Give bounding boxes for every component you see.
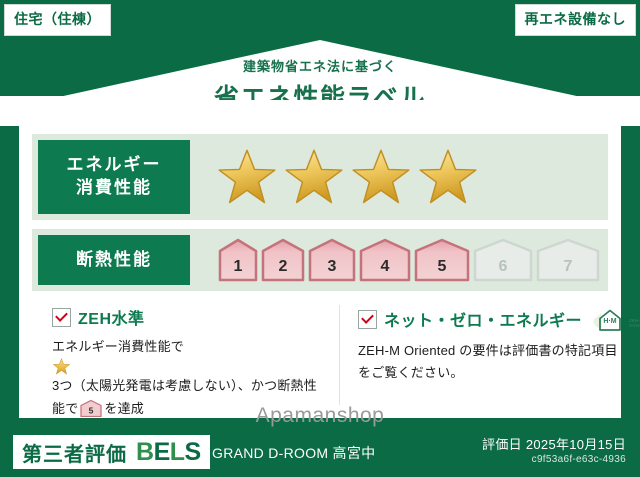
bels-letter-s: S <box>185 438 201 466</box>
footer-bar: 第三者評価 BELS GRAND D-ROOM 高宮中 評価日 2025年10月… <box>0 429 640 477</box>
insulation-grade-value: 1 <box>218 258 258 276</box>
insulation-performance-label: 断熱性能 <box>38 235 190 285</box>
evaluation-date: 評価日 2025年10月15日 <box>482 434 626 453</box>
bels-letter-l: L <box>170 438 185 466</box>
energy-performance-label: エネルギー 消費性能 <box>38 140 190 214</box>
energy-performance-row: エネルギー 消費性能 <box>32 134 608 220</box>
zeh-standard-title: ZEH水準 <box>78 305 145 329</box>
insulation-performance-row: 断熱性能 1234567 <box>32 229 608 291</box>
zeh-body-part1: エネルギー消費性能で <box>52 339 184 354</box>
bels-logo: BELS <box>136 438 201 467</box>
insulation-grade-scale: 1234567 <box>218 238 600 282</box>
third-party-eval-label: 第三者評価 <box>22 438 127 467</box>
insulation-grade-value: 5 <box>414 258 470 276</box>
net-zero-energy-note: ネット・ゼロ・エネルギー H·M ZEH-M Oriented ZEH-M <box>339 305 640 405</box>
insulation-grade-value: 6 <box>473 258 533 276</box>
star-icon <box>352 149 410 205</box>
zeh-standard-note: ZEH水準 エネルギー消費性能で3つ（太陽光発電は考慮しない）、かつ断熱性能で5… <box>38 305 339 405</box>
bels-energy-label: 住宅（住棟） 再エネ設備なし 建築物省エネ法に基づく 省エネ性能ラベル エネルギ… <box>0 0 640 477</box>
rating-card: エネルギー 消費性能 断熱性能 1234567 ZEH水準 <box>19 100 621 418</box>
insulation-grade-value: 2 <box>261 258 305 276</box>
inline-grade-badge: 5 <box>80 400 102 424</box>
insulation-label-line1: 断熱性能 <box>76 249 152 272</box>
zeh-house-icon: H·M <box>593 305 627 333</box>
insulation-grade-badge: 4 <box>359 238 411 282</box>
zeh-standard-heading: ZEH水準 <box>52 305 329 329</box>
net-zero-title: ネット・ゼロ・エネルギー <box>384 307 582 331</box>
insulation-grade-badge: 2 <box>261 238 305 282</box>
insulation-grade-value: 3 <box>308 258 356 276</box>
zeh-logo-text: H·M <box>603 318 616 325</box>
net-zero-body: ZEH-M Oriented の要件は評価書の特記項目をご覧ください。 <box>358 340 630 385</box>
renewable-equipment-tag: 再エネ設備なし <box>515 4 637 36</box>
bels-badge: 第三者評価 BELS <box>13 435 210 469</box>
star-icon <box>419 149 477 205</box>
bels-letter-b: B <box>136 438 154 466</box>
inline-grade-value: 5 <box>89 405 94 415</box>
insulation-grade-badge: 1 <box>218 238 258 282</box>
notes-section: ZEH水準 エネルギー消費性能で3つ（太陽光発電は考慮しない）、かつ断熱性能で5… <box>38 305 640 405</box>
bels-letter-e: E <box>154 438 170 466</box>
energy-label-line1: エネルギー <box>67 154 162 177</box>
energy-performance-value <box>190 134 608 220</box>
zeh-caption-line1: ZEH-M <box>629 318 640 323</box>
star-icon <box>285 149 343 205</box>
star-rating <box>218 149 477 205</box>
inline-star-icon <box>53 358 70 375</box>
energy-label-line2: 消費性能 <box>76 177 152 200</box>
insulation-grade-value: 7 <box>536 258 600 276</box>
zeh-caption-line2: Oriented <box>629 323 640 328</box>
property-name: GRAND D-ROOM 高宮中 <box>212 443 375 463</box>
zeh-standard-checkbox[interactable] <box>52 308 71 327</box>
zeh-logo-caption: ZEH-M Oriented <box>629 318 640 333</box>
zeh-standard-body: エネルギー消費性能で3つ（太陽光発電は考慮しない）、かつ断熱性能で5を達成 <box>52 336 329 424</box>
insulation-grade-badge: 6 <box>473 238 533 282</box>
zeh-m-oriented-logo: H·M ZEH-M Oriented <box>593 305 640 333</box>
insulation-grade-badge: 7 <box>536 238 600 282</box>
zeh-body-part3: を達成 <box>104 401 144 416</box>
net-zero-heading: ネット・ゼロ・エネルギー H·M ZEH-M Oriented <box>358 305 630 333</box>
building-type-tag: 住宅（住棟） <box>4 4 111 36</box>
title-subtitle: 建築物省エネ法に基づく <box>0 56 640 75</box>
evaluation-id: c9f53a6f-e63c-4936 <box>532 454 626 465</box>
insulation-performance-value: 1234567 <box>190 229 608 291</box>
insulation-grade-value: 4 <box>359 258 411 276</box>
insulation-grade-badge: 3 <box>308 238 356 282</box>
star-icon <box>218 149 276 205</box>
net-zero-checkbox[interactable] <box>358 310 377 329</box>
insulation-grade-badge: 5 <box>414 238 470 282</box>
